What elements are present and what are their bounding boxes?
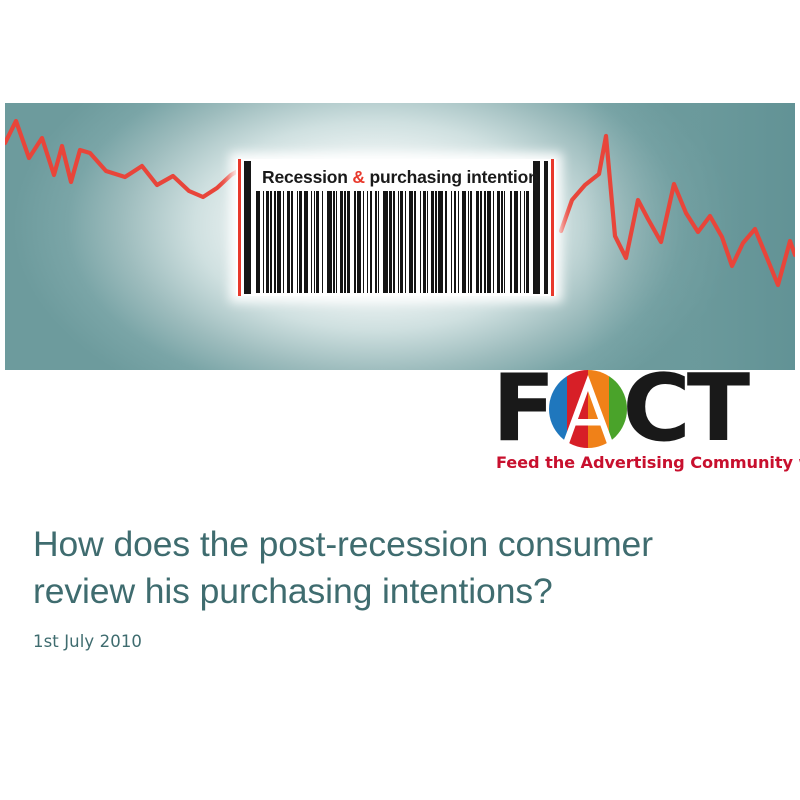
barcode-bar xyxy=(445,191,446,293)
barcode-bar xyxy=(266,191,269,293)
barcode-bar xyxy=(287,191,290,293)
barcode-bar xyxy=(327,191,331,293)
barcode-bar xyxy=(504,191,505,293)
barcode-bar xyxy=(274,191,275,293)
barcode-bar xyxy=(420,191,421,293)
barcode-bar xyxy=(291,191,292,293)
barcode-headline: Recession & purchasing intention xyxy=(262,167,528,188)
barcode-bar xyxy=(431,191,434,293)
barcode-bar xyxy=(484,191,485,293)
barcode-guard-bar-left xyxy=(244,161,251,294)
barcode-bar xyxy=(501,191,502,293)
barcode-bar xyxy=(383,191,387,293)
barcode-bar xyxy=(427,191,428,293)
barcode-bar xyxy=(347,191,350,293)
barcode-bar xyxy=(393,191,394,293)
barcode-bar xyxy=(409,191,413,293)
barcode-bar xyxy=(493,191,494,293)
barcode-bar xyxy=(526,191,529,293)
barcode-bar xyxy=(357,191,361,293)
barcode-headline-prefix: Recession xyxy=(262,167,352,187)
barcode-bar xyxy=(487,191,491,293)
barcode-bar xyxy=(378,191,379,293)
trendline-left-series xyxy=(5,121,241,197)
barcode-headline-ampersand: & xyxy=(352,167,364,187)
barcode-bar xyxy=(520,191,521,293)
barcode-bar xyxy=(398,191,399,293)
fact-letter-a-colorwheel-icon xyxy=(546,369,630,449)
hero-banner: Recession & purchasing intention xyxy=(5,103,795,370)
presentation-date: 1st July 2010 xyxy=(33,632,763,651)
barcode-bar xyxy=(283,191,284,293)
fact-logo: F CT Feed the Advertisi xyxy=(492,369,792,481)
barcode-bar xyxy=(340,191,343,293)
title-block: How does the post-recession consumer rev… xyxy=(33,521,763,651)
barcode-bar xyxy=(322,191,323,293)
barcode-bar xyxy=(533,191,534,293)
barcode-bar xyxy=(263,191,264,293)
barcode-bar xyxy=(414,191,415,293)
barcode-bar xyxy=(497,191,500,293)
fact-wordmark: F CT xyxy=(492,369,746,449)
barcode-bar xyxy=(354,191,355,293)
barcode-bar xyxy=(311,191,312,293)
barcode-bar xyxy=(480,191,481,293)
barcode-bar xyxy=(363,191,364,293)
barcode-bar xyxy=(316,191,319,293)
barcode-bar xyxy=(458,191,459,293)
barcode-bar xyxy=(468,191,469,293)
barcode-bar xyxy=(476,191,479,293)
barcode-bar xyxy=(400,191,403,293)
trendline-right-series xyxy=(561,136,795,285)
page-title: How does the post-recession consumer rev… xyxy=(33,521,763,615)
barcode-bar xyxy=(277,191,281,293)
barcode-guard-bar-right-thin xyxy=(544,161,548,294)
barcode-bar xyxy=(438,191,442,293)
barcode-bar xyxy=(367,191,368,293)
barcode-bar xyxy=(299,191,302,293)
barcode-bar xyxy=(370,191,373,293)
barcode-bar xyxy=(270,191,271,293)
barcode-bar xyxy=(405,191,406,293)
barcode-bar xyxy=(344,191,345,293)
barcode-bar xyxy=(333,191,334,293)
barcode-bar xyxy=(514,191,518,293)
barcode-bar xyxy=(470,191,471,293)
barcode-bar xyxy=(375,191,376,293)
barcode-headline-suffix: purchasing intention xyxy=(365,167,539,187)
barcode-bar xyxy=(462,191,466,293)
barcode-bar xyxy=(435,191,436,293)
barcode-bar xyxy=(297,191,298,293)
barcode-bar xyxy=(314,191,315,293)
barcode-bar xyxy=(423,191,426,293)
barcode-bar xyxy=(389,191,392,293)
barcode-bar xyxy=(336,191,337,293)
barcode-bar xyxy=(510,191,513,293)
barcode-bar xyxy=(454,191,457,293)
barcode-bar xyxy=(524,191,525,293)
barcode-left-red-rule xyxy=(238,159,241,296)
barcode-bars-group xyxy=(256,191,536,293)
barcode-graphic: Recession & purchasing intention xyxy=(236,159,556,296)
fact-tagline: Feed the Advertising Community with Tren… xyxy=(496,453,800,472)
fact-letters-ct: CT xyxy=(623,369,747,448)
barcode-right-red-rule xyxy=(551,159,554,296)
fact-letter-f: F xyxy=(492,369,552,448)
barcode-bar xyxy=(256,191,260,293)
barcode-bar xyxy=(451,191,452,293)
barcode-bar xyxy=(304,191,308,293)
